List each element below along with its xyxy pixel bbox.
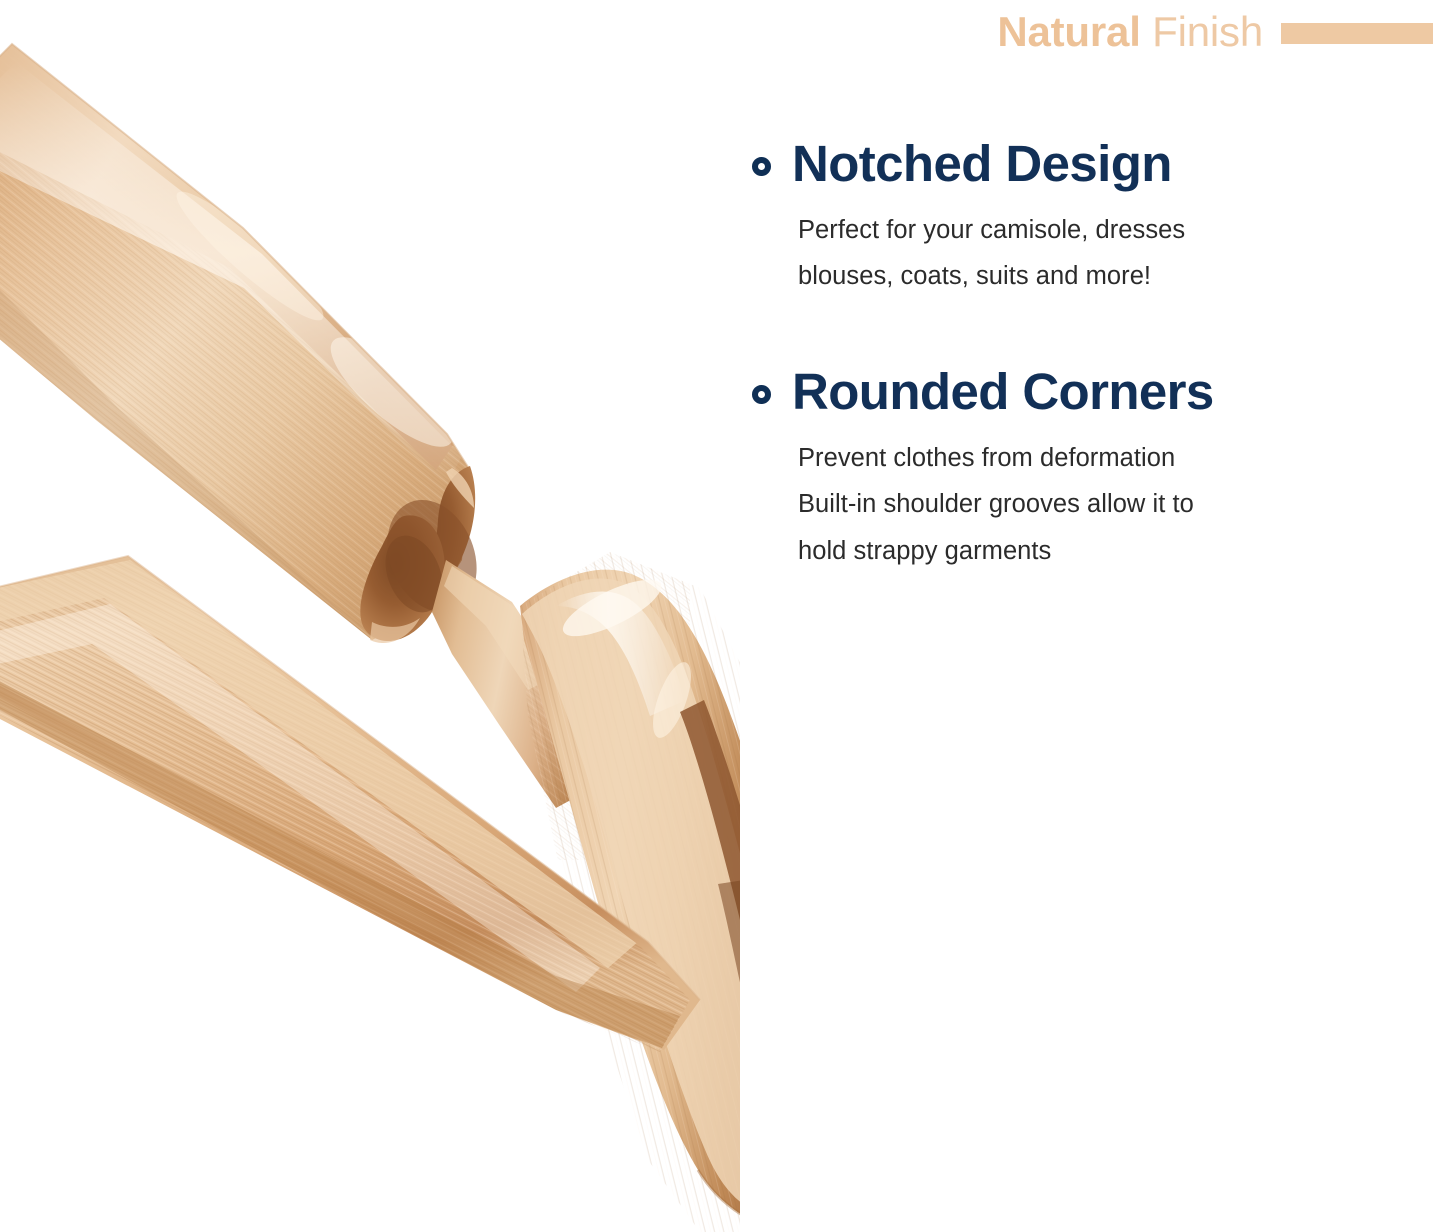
feature-description-line: Built-in shoulder grooves allow it to (798, 481, 1412, 527)
feature-block-rounded-corners: Rounded Corners Prevent clothes from def… (752, 364, 1412, 574)
feature-description-line: Perfect for your camisole, dresses (798, 207, 1412, 253)
feature-title: Notched Design (792, 136, 1172, 191)
feature-description-line: Prevent clothes from deformation (798, 435, 1412, 481)
feature-title: Rounded Corners (792, 364, 1214, 419)
product-photo (0, 0, 740, 1232)
feature-description: Prevent clothes from deformation Built-i… (798, 435, 1412, 574)
feature-description: Perfect for your camisole, dresses blous… (798, 207, 1412, 300)
feature-description-line: blouses, coats, suits and more! (798, 253, 1412, 299)
feature-list: Notched Design Perfect for your camisole… (752, 136, 1412, 574)
ring-bullet-icon (752, 385, 771, 404)
hanger-illustration (0, 0, 740, 1232)
ring-bullet-icon (752, 157, 771, 176)
feature-description-line: hold strappy garments (798, 528, 1412, 574)
page-title-bold: Natural (997, 8, 1140, 55)
page-title-light: Finish (1152, 8, 1263, 55)
feature-heading-row: Notched Design (752, 136, 1412, 191)
feature-heading-row: Rounded Corners (752, 364, 1412, 419)
header-accent-bar (1281, 23, 1433, 44)
page-title: Natural Finish (997, 9, 1263, 53)
feature-block-notched-design: Notched Design Perfect for your camisole… (752, 136, 1412, 300)
product-feature-panel: Natural Finish (0, 0, 1433, 1232)
